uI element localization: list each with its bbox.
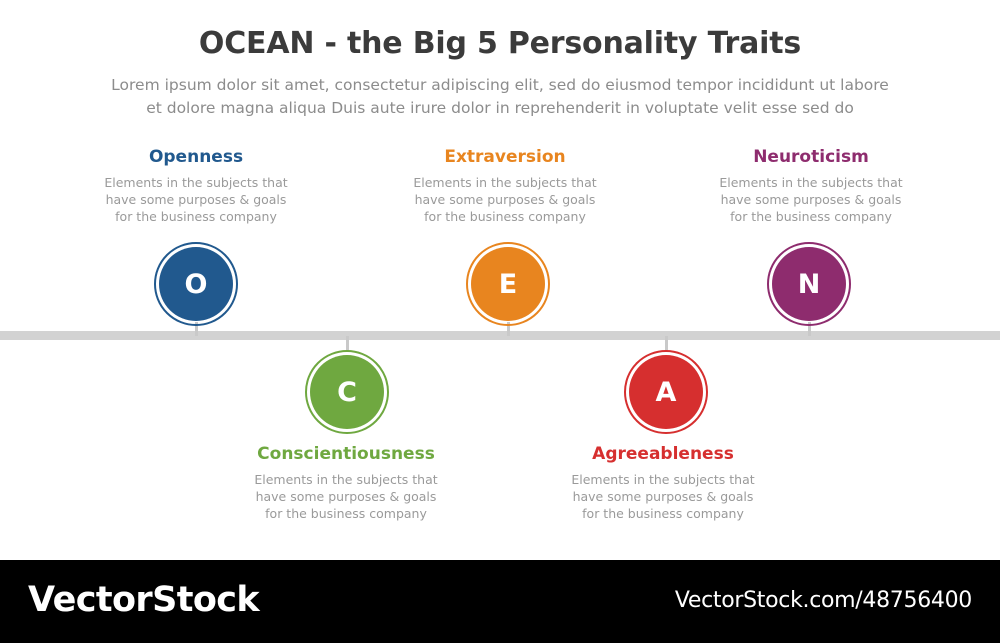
- desc-line-3: for the business company: [513, 505, 813, 522]
- trait-node-agreeableness[interactable]: A: [624, 350, 708, 434]
- desc-line-1: Elements in the subjects that: [196, 471, 496, 488]
- trait-text-neuroticism: Neuroticism Elements in the subjects tha…: [661, 146, 961, 225]
- trait-description-openness: Elements in the subjects that have some …: [46, 174, 346, 225]
- trait-disc-openness: O: [159, 247, 233, 321]
- trait-text-extraversion: Extraversion Elements in the subjects th…: [355, 146, 655, 225]
- trait-node-conscientiousness[interactable]: C: [305, 350, 389, 434]
- desc-line-3: for the business company: [46, 208, 346, 225]
- vectorstock-url: VectorStock.com/48756400: [675, 588, 972, 613]
- desc-line-1: Elements in the subjects that: [661, 174, 961, 191]
- trait-disc-extraversion: E: [471, 247, 545, 321]
- trait-name-conscientiousness: Conscientiousness: [196, 443, 496, 465]
- trait-letter-openness: O: [185, 271, 208, 298]
- trait-description-conscientiousness: Elements in the subjects that have some …: [196, 471, 496, 522]
- trait-disc-conscientiousness: C: [310, 355, 384, 429]
- trait-description-neuroticism: Elements in the subjects that have some …: [661, 174, 961, 225]
- page-subtitle: Lorem ipsum dolor sit amet, consectetur …: [40, 74, 960, 120]
- desc-line-2: have some purposes & goals: [355, 191, 655, 208]
- timeline-bar: [0, 331, 1000, 340]
- trait-node-neuroticism[interactable]: N: [767, 242, 851, 326]
- infographic-canvas: OCEAN - the Big 5 Personality Traits Lor…: [0, 0, 1000, 560]
- desc-line-3: for the business company: [661, 208, 961, 225]
- trait-node-extraversion[interactable]: E: [466, 242, 550, 326]
- desc-line-1: Elements in the subjects that: [46, 174, 346, 191]
- trait-description-extraversion: Elements in the subjects that have some …: [355, 174, 655, 225]
- subtitle-line-1: Lorem ipsum dolor sit amet, consectetur …: [40, 74, 960, 97]
- watermark-bar: VectorStock VectorStock.com/48756400: [0, 560, 1000, 643]
- desc-line-1: Elements in the subjects that: [513, 471, 813, 488]
- trait-letter-conscientiousness: C: [337, 379, 357, 406]
- page-title: OCEAN - the Big 5 Personality Traits: [0, 24, 1000, 64]
- trait-description-agreeableness: Elements in the subjects that have some …: [513, 471, 813, 522]
- trait-name-neuroticism: Neuroticism: [661, 146, 961, 168]
- trait-text-openness: Openness Elements in the subjects that h…: [46, 146, 346, 225]
- trait-letter-neuroticism: N: [798, 271, 821, 298]
- trait-text-agreeableness: Agreeableness Elements in the subjects t…: [513, 443, 813, 522]
- desc-line-2: have some purposes & goals: [661, 191, 961, 208]
- trait-node-openness[interactable]: O: [154, 242, 238, 326]
- trait-name-extraversion: Extraversion: [355, 146, 655, 168]
- trait-letter-extraversion: E: [499, 271, 517, 298]
- desc-line-2: have some purposes & goals: [513, 488, 813, 505]
- desc-line-3: for the business company: [355, 208, 655, 225]
- desc-line-3: for the business company: [196, 505, 496, 522]
- trait-disc-agreeableness: A: [629, 355, 703, 429]
- trait-letter-agreeableness: A: [656, 379, 677, 406]
- trait-name-agreeableness: Agreeableness: [513, 443, 813, 465]
- desc-line-2: have some purposes & goals: [46, 191, 346, 208]
- subtitle-line-2: et dolore magna aliqua Duis aute irure d…: [40, 97, 960, 120]
- vectorstock-logo: VectorStock: [28, 580, 259, 620]
- trait-name-openness: Openness: [46, 146, 346, 168]
- header: OCEAN - the Big 5 Personality Traits Lor…: [0, 0, 1000, 120]
- trait-disc-neuroticism: N: [772, 247, 846, 321]
- desc-line-2: have some purposes & goals: [196, 488, 496, 505]
- trait-text-conscientiousness: Conscientiousness Elements in the subjec…: [196, 443, 496, 522]
- desc-line-1: Elements in the subjects that: [355, 174, 655, 191]
